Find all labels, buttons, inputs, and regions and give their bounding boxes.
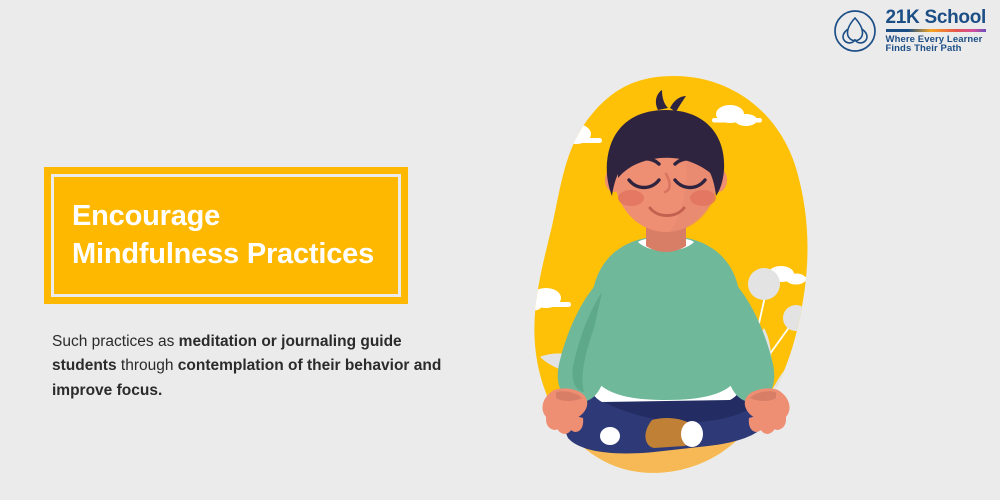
dandelion-head-icon [783,305,809,331]
headline-card: Encourage Mindfulness Practices [44,167,408,304]
cheek-blush [690,190,716,206]
body-paragraph: Such practices as meditation or journali… [52,330,452,403]
brand-logo: 21K School Where Every Learner Finds The… [833,8,986,54]
headline-inner-border: Encourage Mindfulness Practices [51,174,401,297]
right-hand [745,388,790,434]
lotus-circle-icon [833,9,877,53]
logo-gradient-rule [886,29,986,32]
logo-wordmark: 21K School [886,8,986,27]
logo-text-block: 21K School Where Every Learner Finds The… [886,8,986,54]
meditating-boy-illustration [498,60,838,490]
body-text-regular: Such practices as [52,333,179,350]
page-title: Encourage Mindfulness Practices [54,198,374,273]
dandelion-head-icon [748,268,780,300]
cheek-blush [618,190,644,206]
left-hand [542,388,587,434]
body-text-regular: through [117,357,178,374]
logo-tagline-line2: Finds Their Path [886,44,986,54]
